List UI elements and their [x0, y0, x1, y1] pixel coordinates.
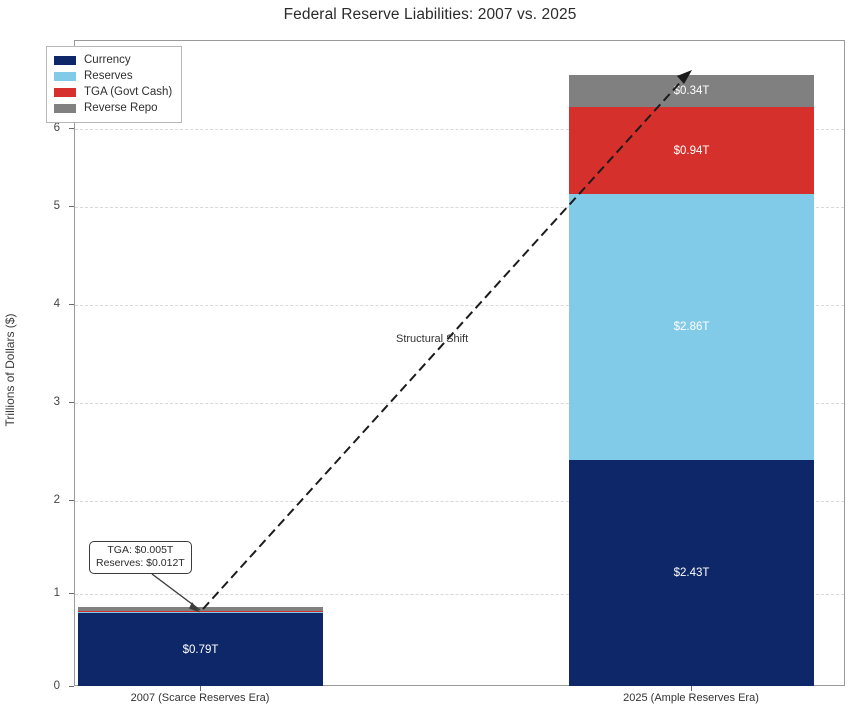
bar-2025-reverse-repo-value: $0.34T: [569, 85, 814, 97]
bar-2007-currency-value: $0.79T: [78, 644, 323, 656]
legend-label-currency: Currency: [84, 54, 131, 66]
bar-2007-segment-reverse-repo[interactable]: [78, 607, 323, 611]
callout-line-reserves: Reserves: $0.012T: [96, 557, 185, 570]
y-tick-label-3: 3: [14, 396, 60, 408]
y-tick-label-6: 6: [14, 122, 60, 134]
y-tick-label-4: 4: [14, 298, 60, 310]
bar-2025-reserves-value: $2.86T: [569, 321, 814, 333]
bar-2007-segment-reserves[interactable]: [78, 612, 323, 613]
y-tick-mark-0: [69, 686, 74, 687]
legend-item-reserves[interactable]: Reserves: [54, 68, 172, 84]
y-tick-label-2: 2: [14, 494, 60, 506]
legend-label-reserves: Reserves: [84, 70, 133, 82]
bar-2025-segment-currency[interactable]: $2.43T: [569, 460, 814, 686]
bar-2025-segment-tga[interactable]: $0.94T: [569, 107, 814, 194]
callout-line-tga: TGA: $0.005T: [96, 544, 185, 557]
bar-2025-segment-reverse-repo[interactable]: $0.34T: [569, 75, 814, 107]
legend-swatch-tga: [54, 88, 76, 97]
x-tick-label-2007: 2007 (Scarce Reserves Era): [131, 692, 270, 704]
bar-2025-tga-value: $0.94T: [569, 145, 814, 157]
structural-shift-label: Structural Shift: [396, 333, 468, 345]
legend: Currency Reserves TGA (Govt Cash) Revers…: [46, 46, 182, 123]
legend-swatch-reverse-repo: [54, 104, 76, 113]
y-tick-label-1: 1: [14, 587, 60, 599]
bar-2025-currency-value: $2.43T: [569, 567, 814, 579]
chart-figure: Federal Reserve Liabilities: 2007 vs. 20…: [0, 0, 860, 716]
legend-item-currency[interactable]: Currency: [54, 52, 172, 68]
x-tick-mark-2025: [691, 686, 692, 691]
legend-item-reverse-repo[interactable]: Reverse Repo: [54, 100, 172, 116]
x-tick-mark-2007: [200, 686, 201, 691]
x-tick-label-2025: 2025 (Ample Reserves Era): [623, 692, 759, 704]
y-tick-label-5: 5: [14, 200, 60, 212]
bar-2025-segment-reserves[interactable]: $2.86T: [569, 194, 814, 460]
legend-label-reverse-repo: Reverse Repo: [84, 102, 158, 114]
legend-swatch-currency: [54, 56, 76, 65]
bar-2007-segment-currency[interactable]: $0.79T: [78, 613, 323, 686]
page-title: Federal Reserve Liabilities: 2007 vs. 20…: [0, 6, 860, 24]
legend-item-tga[interactable]: TGA (Govt Cash): [54, 84, 172, 100]
legend-label-tga: TGA (Govt Cash): [84, 86, 172, 98]
small-segments-callout: TGA: $0.005T Reserves: $0.012T: [89, 541, 192, 574]
legend-swatch-reserves: [54, 72, 76, 81]
y-tick-label-0: 0: [14, 680, 60, 692]
plot-area: $0.79T $2.43T $2.86T $0.94T $0.34T: [74, 40, 845, 686]
y-axis-label: Trillions of Dollars ($): [3, 200, 17, 540]
